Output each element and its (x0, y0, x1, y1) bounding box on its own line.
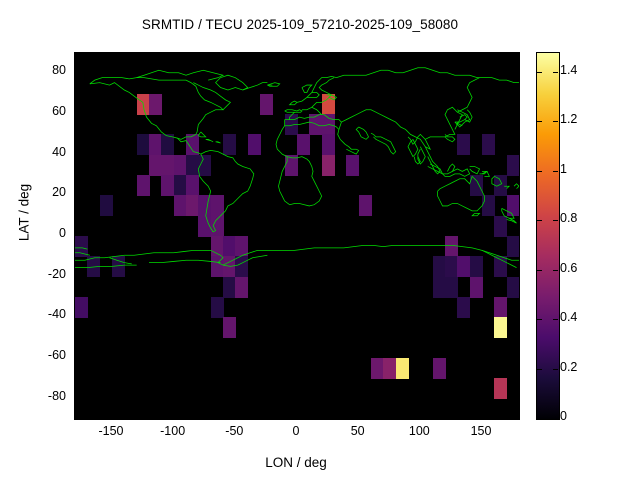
x-tick-label: 0 (266, 424, 326, 438)
colorbar-tick-mark (537, 369, 542, 370)
colorbar-gradient (537, 53, 559, 419)
y-tick-label: 60 (14, 104, 66, 118)
colorbar-tick-label: 0 (560, 409, 567, 423)
y-axis-label: LAT / deg (17, 153, 32, 273)
y-tick-label: 80 (14, 63, 66, 77)
colorbar-tick-mark (537, 72, 542, 73)
colorbar-tick-label: 0.2 (560, 360, 577, 374)
chart-root: SRMTID / TECU 2025-109_57210-2025-109_58… (0, 0, 640, 480)
colorbar-tick-mark (537, 319, 542, 320)
colorbar-tick-label: 1 (560, 162, 567, 176)
x-tick-label: 100 (389, 424, 449, 438)
x-tick-label: -50 (204, 424, 264, 438)
colorbar-tick-label: 1.4 (560, 63, 577, 77)
x-axis-label: LON / deg (74, 455, 518, 470)
colorbar-tick-mark (537, 220, 542, 221)
colorbar-tick-mark (553, 121, 558, 122)
colorbar-tick-label: 0.4 (560, 310, 577, 324)
colorbar-tick-label: 0.6 (560, 261, 577, 275)
colorbar-tick-mark (553, 369, 558, 370)
colorbar (536, 52, 560, 420)
colorbar-tick-mark (537, 121, 542, 122)
y-tick-label: -80 (14, 389, 66, 403)
x-tick-label: -150 (81, 424, 141, 438)
colorbar-tick-mark (553, 220, 558, 221)
colorbar-tick-label: 0.8 (560, 211, 577, 225)
colorbar-tick-mark (553, 319, 558, 320)
colorbar-tick-mark (553, 171, 558, 172)
colorbar-tick-mark (537, 171, 542, 172)
y-tick-label: -40 (14, 307, 66, 321)
colorbar-tick-mark (553, 270, 558, 271)
x-tick-label: 150 (451, 424, 511, 438)
colorbar-tick-mark (553, 72, 558, 73)
x-tick-label: 50 (328, 424, 388, 438)
y-tick-label: -60 (14, 348, 66, 362)
colorbar-tick-mark (537, 270, 542, 271)
colorbar-tick-label: 1.2 (560, 112, 577, 126)
x-tick-label: -100 (143, 424, 203, 438)
